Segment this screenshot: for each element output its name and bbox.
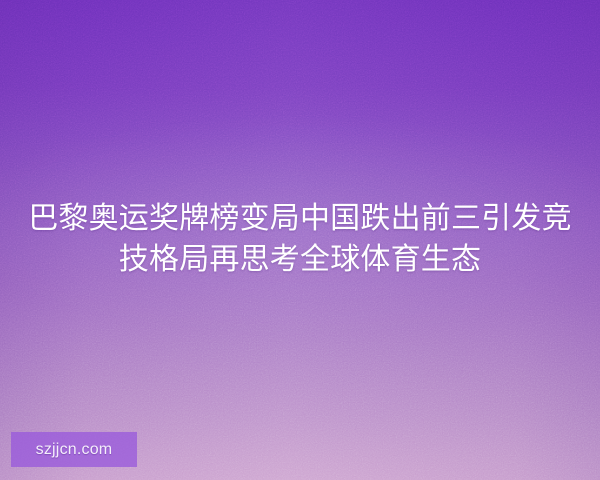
watermark-badge: szjjcn.com (11, 432, 137, 467)
headline-text: 巴黎奥运奖牌榜变局中国跌出前三引发竞技格局再思考全球体育生态 (0, 198, 600, 280)
watermark-label: szjjcn.com (36, 442, 113, 458)
cover-image: 巴黎奥运奖牌榜变局中国跌出前三引发竞技格局再思考全球体育生态 szjjcn.co… (0, 0, 600, 480)
